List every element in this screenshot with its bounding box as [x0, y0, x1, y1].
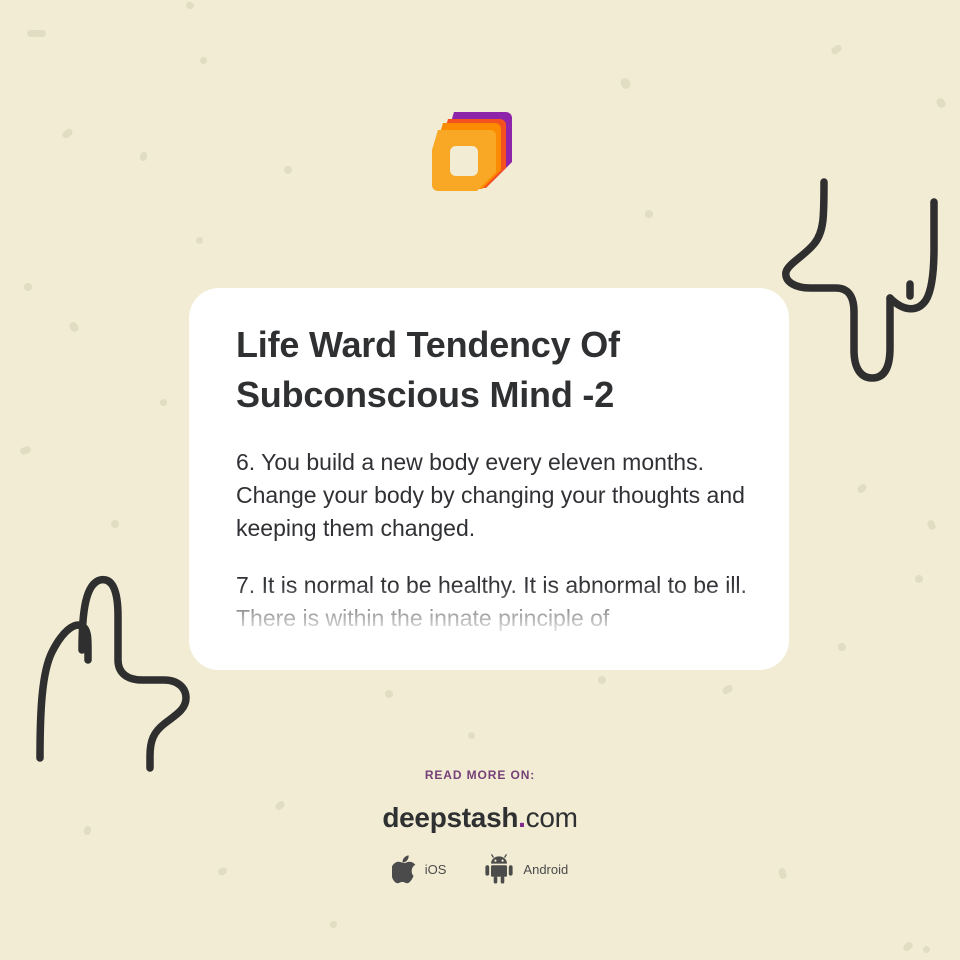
- pointing-hand-illustration-left: [22, 560, 202, 772]
- footer: READ MORE ON: deepstash.com iOS: [0, 768, 960, 884]
- card-content: Life Ward Tendency Of Subconscious Mind …: [236, 320, 749, 659]
- wordmark-tld: com: [526, 802, 578, 833]
- card-paragraph-1: 6. You build a new body every eleven mon…: [236, 446, 749, 545]
- deepstash-wordmark[interactable]: deepstash.com: [0, 804, 960, 832]
- android-icon: [484, 854, 514, 884]
- store-badges: iOS And: [0, 854, 960, 884]
- apple-icon: [392, 855, 416, 884]
- pointing-hand-illustration-right: [774, 172, 960, 387]
- read-more-label: READ MORE ON:: [0, 768, 960, 782]
- wordmark-brand: deepstash: [382, 802, 518, 833]
- android-store-label: Android: [523, 862, 568, 877]
- deepstash-logo: [430, 106, 516, 194]
- ios-store-label: iOS: [425, 862, 447, 877]
- poster-canvas: Life Ward Tendency Of Subconscious Mind …: [0, 0, 960, 960]
- ios-store-badge[interactable]: iOS: [392, 855, 447, 884]
- idea-card[interactable]: Life Ward Tendency Of Subconscious Mind …: [189, 288, 789, 670]
- wordmark-dot: .: [518, 802, 525, 833]
- page-title: Life Ward Tendency Of Subconscious Mind …: [236, 320, 706, 420]
- android-store-badge[interactable]: Android: [484, 854, 568, 884]
- card-paragraph-2: 7. It is normal to be healthy. It is abn…: [236, 569, 749, 635]
